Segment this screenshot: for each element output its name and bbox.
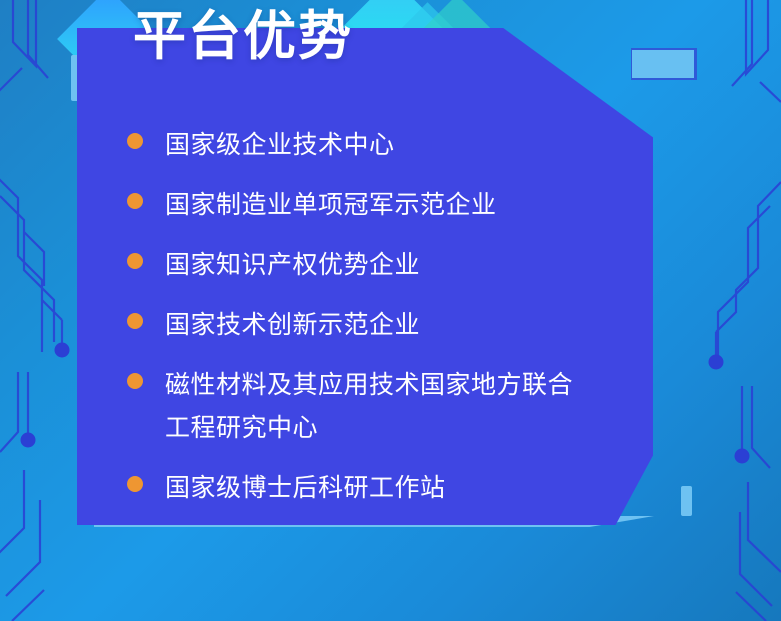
bullet-dot-icon bbox=[127, 253, 143, 269]
bullet-dot-icon bbox=[127, 476, 143, 492]
platform-advantages-banner: 国家级企业技术中心国家制造业单项冠军示范企业国家知识产权优势企业国家技术创新示范… bbox=[0, 0, 781, 621]
bullet-dot-icon bbox=[127, 373, 143, 389]
list-item-label: 磁性材料及其应用技术国家地方联合工程研究中心 bbox=[165, 364, 585, 450]
list-item-label: 国家制造业单项冠军示范企业 bbox=[165, 184, 497, 227]
list-item: 国家级企业技术中心 bbox=[77, 124, 653, 167]
bullet-dot-icon bbox=[127, 313, 143, 329]
list-item: 国家制造业单项冠军示范企业 bbox=[77, 184, 653, 227]
content-panel: 国家级企业技术中心国家制造业单项冠军示范企业国家知识产权优势企业国家技术创新示范… bbox=[77, 28, 653, 525]
list-item-label: 国务院“科改示范企业” bbox=[165, 527, 412, 570]
list-item: 国家级博士后科研工作站 bbox=[77, 467, 653, 510]
list-item: 磁性材料及其应用技术国家地方联合工程研究中心 bbox=[77, 364, 653, 450]
accent-top-right-rect bbox=[632, 50, 694, 78]
content-panel-inner: 国家级企业技术中心国家制造业单项冠军示范企业国家知识产权优势企业国家技术创新示范… bbox=[77, 28, 653, 525]
list-item: 国务院“科改示范企业” bbox=[77, 527, 653, 570]
page-title: 平台优势 bbox=[133, 8, 353, 66]
list-item: 国家知识产权优势企业 bbox=[77, 244, 653, 287]
accent-bottom-right-bar bbox=[681, 486, 692, 516]
advantages-list: 国家级企业技术中心国家制造业单项冠军示范企业国家知识产权优势企业国家技术创新示范… bbox=[77, 124, 653, 587]
bullet-dot-icon bbox=[127, 133, 143, 149]
list-item-label: 国家级博士后科研工作站 bbox=[165, 467, 446, 510]
list-item-label: 国家技术创新示范企业 bbox=[165, 304, 420, 347]
list-item: 国家技术创新示范企业 bbox=[77, 304, 653, 347]
bullet-dot-icon bbox=[127, 536, 143, 552]
bullet-dot-icon bbox=[127, 193, 143, 209]
list-item-label: 国家级企业技术中心 bbox=[165, 124, 395, 167]
list-item-label: 国家知识产权优势企业 bbox=[165, 244, 420, 287]
